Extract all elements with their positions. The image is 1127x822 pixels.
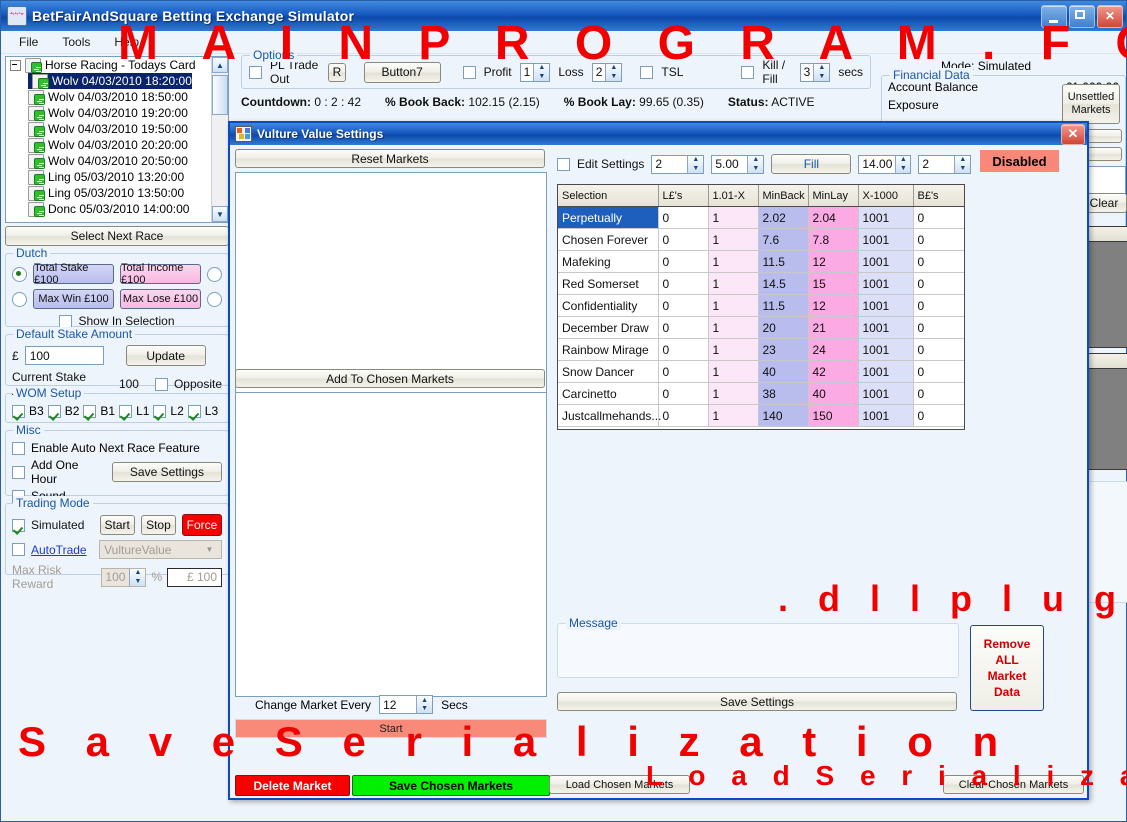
reset-markets-button[interactable]: Reset Markets (235, 149, 545, 168)
simulated-checkbox[interactable] (12, 519, 25, 532)
cell-selection: Snow Dancer (558, 361, 658, 383)
cell-minback: 7.6 (758, 229, 808, 251)
wom-legend: WOM Setup (13, 386, 84, 400)
main-window-title: BetFairAndSquare Betting Exchange Simula… (32, 8, 1041, 24)
spinner-arrows[interactable]: ▲▼ (813, 64, 829, 81)
cell-selection: Justcallmehands... (558, 405, 658, 427)
pl-trade-out-checkbox[interactable] (249, 66, 262, 79)
chosen-markets-list[interactable] (235, 392, 547, 697)
cell-selection: Confidentiality (558, 295, 658, 317)
tree-item[interactable]: Ling 05/03/2010 13:50:00 (6, 185, 228, 201)
settings-spinner-2[interactable]: 5.00 ▲▼ (711, 155, 764, 174)
cell-lpounds: 0 (658, 251, 708, 273)
wom-label-l1: L1 (136, 404, 149, 418)
max-win-button[interactable]: Max Win £100 (33, 289, 114, 309)
tree-item[interactable]: Ling 05/03/2010 13:20:00 (6, 169, 228, 185)
cell-minlay: 150 (808, 405, 858, 427)
radio-total-income[interactable] (207, 267, 222, 282)
dialog-titlebar: Vulture Value Settings ✕ (230, 123, 1087, 145)
countdown-label: Countdown: (241, 95, 311, 109)
cell-lpounds: 0 (658, 273, 708, 295)
spinner-arrows[interactable]: ▲▼ (954, 156, 970, 173)
settings-spinner-2-value: 5.00 (712, 156, 747, 173)
autotrade-link[interactable]: AutoTrade (31, 543, 93, 557)
race-tree[interactable]: Horse Racing - Todays Card Wolv 04/03/20… (5, 56, 229, 223)
percent-label: % (151, 570, 162, 584)
kill-fill-label: Kill / Fill (762, 58, 791, 86)
wom-checkbox-l3[interactable] (188, 405, 201, 418)
wom-checkbox-l1[interactable] (119, 405, 132, 418)
col-bpounds: B£'s (913, 185, 964, 207)
misc-legend: Misc (13, 423, 44, 437)
save-chosen-markets-button[interactable]: Save Chosen Markets (352, 775, 550, 796)
cell-x1000: 1001 (858, 317, 913, 339)
cell-minback: 11.5 (758, 295, 808, 317)
default-stake-group: Default Stake Amount £ 100 Update Curren… (5, 334, 229, 386)
tree-item-label: Wolv 04/03/2010 20:20:00 (48, 138, 188, 152)
book-lay-label: % Book Lay: (564, 95, 636, 109)
left-panel: Horse Racing - Todays Card Wolv 04/03/20… (5, 56, 229, 586)
radio-max-win[interactable] (12, 292, 27, 307)
delete-market-button[interactable]: Delete Market (235, 775, 350, 796)
cell-x1000: 1001 (858, 229, 913, 251)
change-market-every-label: Change Market Every (255, 698, 371, 712)
remove-all-line-1: Remove (984, 637, 1031, 651)
cell-x1000: 1001 (858, 383, 913, 405)
mode-value: Simulated (978, 59, 1031, 73)
unsettled-markets-button[interactable]: Unsettled Markets (1062, 84, 1120, 124)
remove-all-line-2: ALL (995, 653, 1018, 667)
right-button-a[interactable] (1087, 129, 1122, 143)
cell-minlay: 24 (808, 339, 858, 361)
cell-x1000: 1001 (858, 405, 913, 427)
disabled-status-badge: Disabled (980, 150, 1059, 172)
cell-minlay: 7.8 (808, 229, 858, 251)
tree-item[interactable]: Wolv 04/03/2010 18:50:00 (6, 89, 228, 105)
cell-minlay: 42 (808, 361, 858, 383)
cell-minlay: 12 (808, 295, 858, 317)
max-risk-reward-label: Max Risk Reward (12, 563, 96, 591)
race-icon (28, 138, 44, 153)
kill-fill-checkbox[interactable] (741, 66, 754, 79)
table-row[interactable]: Carcinetto01384010010 (558, 383, 964, 405)
cell-minback: 2.02 (758, 207, 808, 229)
spinner-arrows[interactable]: ▲▼ (129, 569, 145, 586)
cell-x101: 1 (708, 273, 758, 295)
cell-minback: 23 (758, 339, 808, 361)
spinner-arrows[interactable]: ▲▼ (416, 696, 432, 713)
dutch-legend: Dutch (13, 246, 50, 260)
cell-minback: 140 (758, 405, 808, 427)
exposure-label: Exposure (888, 98, 1039, 112)
cell-bpounds: 0 (913, 207, 964, 229)
race-icon (28, 90, 44, 105)
secs-label: Secs (441, 698, 468, 712)
settings-spinner-1[interactable]: 2 ▲▼ (651, 155, 704, 174)
cell-x1000: 1001 (858, 295, 913, 317)
clear-chosen-markets-button[interactable]: Clear Chosen Markets (943, 775, 1084, 794)
opposite-label: Opposite (174, 377, 222, 391)
race-icon (28, 202, 44, 217)
cell-lpounds: 0 (658, 295, 708, 317)
tree-item[interactable]: Donc 05/03/2010 14:00:00 (6, 201, 228, 217)
tree-root-label: Horse Racing - Todays Card (45, 58, 196, 72)
wom-checkbox-l2[interactable] (153, 405, 166, 418)
spinner-arrows[interactable]: ▲▼ (687, 156, 703, 173)
add-to-chosen-markets-button[interactable]: Add To Chosen Markets (235, 369, 545, 388)
tree-item[interactable]: Wolv 04/03/2010 20:20:00 (6, 137, 228, 153)
edit-settings-label: Edit Settings (577, 157, 644, 171)
spinner-arrows[interactable]: ▲▼ (605, 64, 621, 81)
tree-item[interactable]: Wolv 04/03/2010 20:50:00 (6, 153, 228, 169)
cell-selection: Mafeking (558, 251, 658, 273)
tsl-checkbox[interactable] (640, 66, 653, 79)
button7[interactable]: Button7 (364, 62, 441, 83)
col-minlay: MinLay (808, 185, 858, 207)
spinner-arrows[interactable]: ▲▼ (747, 156, 763, 173)
trading-mode-legend: Trading Mode (13, 496, 93, 510)
kill-fill-spinner[interactable]: 3 ▲▼ (800, 63, 831, 82)
remove-all-line-3: Market (988, 669, 1027, 683)
scroll-down-icon[interactable]: ▼ (212, 206, 228, 222)
spinner-arrows[interactable]: ▲▼ (533, 64, 549, 81)
account-balance-label: Account Balance (888, 80, 1039, 94)
dialog-start-button[interactable]: Start (235, 719, 547, 738)
loss-label: Loss (558, 65, 583, 79)
wom-checkbox-b1[interactable] (83, 405, 96, 418)
default-stake-input[interactable]: 100 (25, 346, 104, 365)
secs-label: secs (838, 65, 863, 79)
wom-label-l3: L3 (205, 404, 218, 418)
table-row[interactable]: Red Somerset0114.51510010 (558, 273, 964, 295)
options-group: Options PL Trade Out R Button7 Profit 1 … (241, 55, 871, 89)
tree-item-label: Wolv 04/03/2010 19:50:00 (48, 122, 188, 136)
table-row[interactable]: Perpetually012.022.0410010 (558, 207, 964, 229)
race-icon (28, 170, 44, 185)
close-button[interactable]: ✕ (1097, 5, 1123, 28)
currency-symbol: £ (12, 349, 19, 363)
options-legend: Options (250, 48, 297, 62)
select-next-race-button[interactable]: Select Next Race (5, 226, 229, 246)
main-menubar: File Tools Help (1, 31, 1126, 54)
max-lose-button[interactable]: Max Lose £100 (120, 289, 201, 309)
current-stake-value: 100 (119, 377, 139, 391)
status-line: Countdown: 0 : 2 : 42 % Book Back: 102.1… (241, 93, 869, 111)
edit-settings-row: Edit Settings 2 ▲▼ 5.00 ▲▼ Fill 14.00 ▲▼… (557, 154, 971, 174)
cell-lpounds: 0 (658, 383, 708, 405)
strategy-combo-value: VultureValue (104, 543, 171, 557)
cell-x1000: 1001 (858, 251, 913, 273)
menu-item-file[interactable]: File (9, 33, 48, 51)
misc-group: Misc Enable Auto Next Race Feature Add O… (5, 430, 229, 496)
dutch-row-2: Max Win £100 Max Lose £100 (12, 289, 222, 309)
autotrade-checkbox[interactable] (12, 543, 25, 556)
cell-bpounds: 0 (913, 405, 964, 427)
tree-item-label: Ling 05/03/2010 13:20:00 (48, 170, 184, 184)
radio-max-lose[interactable] (207, 292, 222, 307)
cell-bpounds: 0 (913, 383, 964, 405)
wom-label-b2: B2 (65, 404, 80, 418)
tree-item-selected[interactable]: Wolv 04/03/2010 18:20:00 (28, 73, 192, 89)
table-row[interactable]: Rainbow Mirage01232410010 (558, 339, 964, 361)
strategy-combo[interactable]: VultureValue ▼ (99, 540, 222, 559)
col-minback: MinBack (758, 185, 808, 207)
cell-minlay: 12 (808, 251, 858, 273)
cell-bpounds: 0 (913, 361, 964, 383)
cell-bpounds: 0 (913, 229, 964, 251)
race-icon (32, 74, 48, 89)
kill-fill-value: 3 (801, 64, 814, 81)
cell-selection: Perpetually (558, 207, 658, 229)
cell-x101: 1 (708, 295, 758, 317)
cell-x1000: 1001 (858, 207, 913, 229)
radio-total-stake[interactable] (12, 267, 27, 282)
cell-minlay: 2.04 (808, 207, 858, 229)
settings-spinner-4[interactable]: 2 ▲▼ (918, 155, 971, 174)
message-legend: Message (566, 616, 621, 630)
right-button-b[interactable] (1087, 147, 1122, 161)
dialog-icon (235, 126, 252, 142)
dialog-title: Vulture Value Settings (257, 127, 1061, 141)
tree-item-label: Ling 05/03/2010 13:50:00 (48, 186, 184, 200)
cell-x101: 1 (708, 229, 758, 251)
table-row[interactable]: Mafeking0111.51210010 (558, 251, 964, 273)
table-row[interactable]: Chosen Forever017.67.810010 (558, 229, 964, 251)
maximize-button[interactable] (1069, 5, 1095, 28)
dialog-save-settings-button[interactable]: Save Settings (557, 692, 957, 711)
table-header-row: Selection L£'s 1.01-X MinBack MinLay X-1… (558, 185, 964, 207)
cell-bpounds: 0 (913, 295, 964, 317)
status-value: ACTIVE (771, 95, 814, 109)
remove-all-line-4: Data (994, 685, 1020, 699)
cell-minback: 20 (758, 317, 808, 339)
status-label: Status: (728, 95, 769, 109)
show-in-selection-label: Show In Selection (78, 314, 174, 328)
tree-item-label: Wolv 04/03/2010 20:50:00 (48, 154, 188, 168)
tree-item[interactable]: Wolv 04/03/2010 19:50:00 (6, 121, 228, 137)
stop-button[interactable]: Stop (141, 515, 176, 535)
simulated-label: Simulated (31, 518, 94, 532)
right-data-grid-2[interactable] (1087, 353, 1127, 470)
annotation-dll-plugin: . d l l p l u g i n (778, 578, 1127, 620)
tree-item-label: Wolv 04/03/2010 18:50:00 (48, 90, 188, 104)
tree-item[interactable]: Wolv 04/03/2010 19:20:00 (6, 105, 228, 121)
table-row[interactable]: December Draw01202110010 (558, 317, 964, 339)
tree-scrollbar[interactable]: ▲ ▼ (211, 57, 228, 222)
selections-table-body: Perpetually012.022.0410010Chosen Forever… (558, 207, 964, 427)
race-icon (28, 106, 44, 121)
menu-item-help[interactable]: Help (104, 33, 149, 51)
cell-bpounds: 0 (913, 317, 964, 339)
cell-selection: Chosen Forever (558, 229, 658, 251)
settings-spinner-3[interactable]: 14.00 ▲▼ (858, 155, 911, 174)
cell-bpounds: 0 (913, 251, 964, 273)
change-market-every-spinner[interactable]: 12 ▲▼ (379, 695, 433, 714)
wom-label-b3: B3 (29, 404, 44, 418)
col-lpounds: L£'s (658, 185, 708, 207)
race-icon (28, 154, 44, 169)
main-titlebar: BetFairAndSquare Betting Exchange Simula… (1, 1, 1126, 31)
wom-label-l2: L2 (170, 404, 183, 418)
fill-button[interactable]: Fill (771, 154, 851, 174)
cell-x1000: 1001 (858, 361, 913, 383)
cell-x101: 1 (708, 207, 758, 229)
trading-mode-group: Trading Mode Simulated Start Stop Force … (5, 503, 229, 575)
wom-label-b1: B1 (100, 404, 115, 418)
col-selection: Selection (558, 185, 658, 207)
tree-item-label: Wolv 04/03/2010 18:20:00 (52, 74, 192, 88)
table-row[interactable]: Snow Dancer01404210010 (558, 361, 964, 383)
tsl-label: TSL (661, 65, 683, 79)
selections-grid[interactable]: Selection L£'s 1.01-X MinBack MinLay X-1… (557, 184, 965, 430)
scroll-up-icon[interactable]: ▲ (212, 57, 228, 73)
close-icon: ✕ (1098, 10, 1122, 22)
cell-bpounds: 0 (913, 273, 964, 295)
race-icon (28, 122, 44, 137)
force-button[interactable]: Force (182, 514, 222, 536)
cell-lpounds: 0 (658, 405, 708, 427)
cell-x101: 1 (708, 317, 758, 339)
cell-selection: Carcinetto (558, 383, 658, 405)
col-x101: 1.01-X (708, 185, 758, 207)
settings-spinner-3-value: 14.00 (859, 156, 895, 173)
cell-x1000: 1001 (858, 339, 913, 361)
cell-lpounds: 0 (658, 361, 708, 383)
cell-selection: Rainbow Mirage (558, 339, 658, 361)
add-one-hour-label: Add One Hour (31, 458, 94, 486)
race-icon (28, 186, 44, 201)
dutch-group: Dutch Total Stake £100 Total Income £100… (5, 253, 229, 327)
settings-spinner-1-value: 2 (652, 156, 687, 173)
cell-minback: 14.5 (758, 273, 808, 295)
tree-item-label: Donc 05/03/2010 14:00:00 (48, 202, 189, 216)
right-data-grid-1[interactable] (1087, 226, 1127, 348)
show-in-selection-row: Show In Selection (12, 314, 222, 328)
cell-lpounds: 0 (658, 317, 708, 339)
screenshot-root: BetFairAndSquare Betting Exchange Simula… (0, 0, 1127, 822)
options-row: PL Trade Out R Button7 Profit 1 ▲▼ Loss … (242, 56, 870, 88)
save-settings-button[interactable]: Save Settings (112, 462, 222, 482)
vulture-value-settings-dialog: Vulture Value Settings ✕ Reset Markets A… (228, 121, 1089, 800)
profit-value: 1 (521, 64, 534, 81)
col-x1000: X-1000 (858, 185, 913, 207)
misc-row-auto-next: Enable Auto Next Race Feature (12, 441, 222, 455)
change-market-every-row: Change Market Every 12 ▲▼ Secs (255, 695, 468, 714)
loss-value: 2 (593, 64, 606, 81)
financial-data-legend: Financial Data (890, 68, 973, 82)
start-button[interactable]: Start (100, 515, 135, 535)
tree-item-label: Wolv 04/03/2010 19:20:00 (48, 106, 188, 120)
cell-lpounds: 0 (658, 207, 708, 229)
folder-icon (25, 58, 41, 73)
max-risk-reward-value: 100 (102, 569, 129, 586)
cell-x1000: 1001 (858, 273, 913, 295)
wom-checkbox-b3[interactable] (12, 405, 25, 418)
selections-table: Selection L£'s 1.01-X MinBack MinLay X-1… (558, 185, 965, 427)
cell-minback: 40 (758, 361, 808, 383)
cell-x101: 1 (708, 405, 758, 427)
misc-row-add-hour: Add One Hour Save Settings (12, 458, 222, 486)
cell-x101: 1 (708, 361, 758, 383)
collapse-icon[interactable] (10, 60, 21, 71)
cell-selection: December Draw (558, 317, 658, 339)
book-lay-value: 99.65 (0.35) (639, 95, 704, 109)
profit-spinner[interactable]: 1 ▲▼ (520, 63, 551, 82)
settings-spinner-4-value: 2 (919, 156, 954, 173)
tree-root-row[interactable]: Horse Racing - Todays Card (6, 57, 228, 73)
cell-minlay: 40 (808, 383, 858, 405)
show-in-selection-checkbox[interactable] (59, 315, 72, 328)
enable-auto-next-race-checkbox[interactable] (12, 442, 25, 455)
max-risk-reward-spinner[interactable]: 100 ▲▼ (101, 568, 146, 587)
spinner-arrows[interactable]: ▲▼ (895, 156, 910, 173)
cell-x101: 1 (708, 251, 758, 273)
total-stake-button[interactable]: Total Stake £100 (33, 264, 114, 284)
edit-settings-checkbox[interactable] (557, 158, 570, 171)
cell-minlay: 21 (808, 317, 858, 339)
cell-bpounds: 0 (913, 339, 964, 361)
app-logo-icon (7, 6, 27, 26)
window-controls: ✕ (1041, 5, 1123, 28)
tree-row-wrap: Wolv 04/03/2010 18:20:00 (6, 73, 228, 89)
menu-item-tools[interactable]: Tools (52, 33, 100, 51)
book-back-label: % Book Back: (385, 95, 465, 109)
countdown-value: 0 : 2 : 42 (314, 95, 361, 109)
change-market-every-value: 12 (380, 696, 416, 713)
add-one-hour-checkbox[interactable] (12, 466, 25, 479)
cell-x101: 1 (708, 339, 758, 361)
cell-minback: 38 (758, 383, 808, 405)
wom-checkbox-b2[interactable] (48, 405, 61, 418)
minimize-button[interactable] (1041, 5, 1067, 28)
close-icon: ✕ (1068, 126, 1079, 142)
profit-label: Profit (484, 65, 512, 79)
chevron-down-icon: ▼ (202, 541, 217, 558)
table-row[interactable]: Confidentiality0111.51210010 (558, 295, 964, 317)
wom-row: B3 B2 B1 L1 L2 L3 (12, 404, 222, 418)
update-button[interactable]: Update (126, 345, 206, 366)
dialog-close-button[interactable]: ✕ (1061, 124, 1085, 145)
cell-lpounds: 0 (658, 229, 708, 251)
wom-group: WOM Setup B3 B2 B1 L1 L2 L3 (5, 393, 229, 423)
load-chosen-markets-button[interactable]: Load Chosen Markets (549, 775, 690, 794)
enable-auto-next-race-label: Enable Auto Next Race Feature (31, 441, 200, 455)
cell-minlay: 15 (808, 273, 858, 295)
remove-all-market-data-button[interactable]: Remove ALL Market Data (970, 625, 1044, 711)
book-back-value: 102.15 (2.15) (468, 95, 539, 109)
total-income-button[interactable]: Total Income £100 (120, 264, 201, 284)
r-button[interactable]: R (328, 63, 346, 82)
pl-trade-out-label: PL Trade Out (270, 58, 320, 86)
scroll-thumb[interactable] (212, 75, 228, 115)
loss-spinner[interactable]: 2 ▲▼ (592, 63, 623, 82)
cell-x101: 1 (708, 383, 758, 405)
default-stake-legend: Default Stake Amount (13, 327, 135, 341)
cell-minback: 11.5 (758, 251, 808, 273)
opposite-checkbox[interactable] (155, 378, 168, 391)
profit-checkbox[interactable] (463, 66, 476, 79)
cell-selection: Red Somerset (558, 273, 658, 295)
message-group: Message (557, 623, 959, 678)
dutch-row-1: Total Stake £100 Total Income £100 (12, 264, 222, 284)
table-row[interactable]: Justcallmehands...0114015010010 (558, 405, 964, 427)
remove-all-label: Remove ALL Market Data (984, 636, 1031, 700)
risk-amount-field[interactable]: £ 100 (167, 568, 222, 587)
cell-lpounds: 0 (658, 339, 708, 361)
